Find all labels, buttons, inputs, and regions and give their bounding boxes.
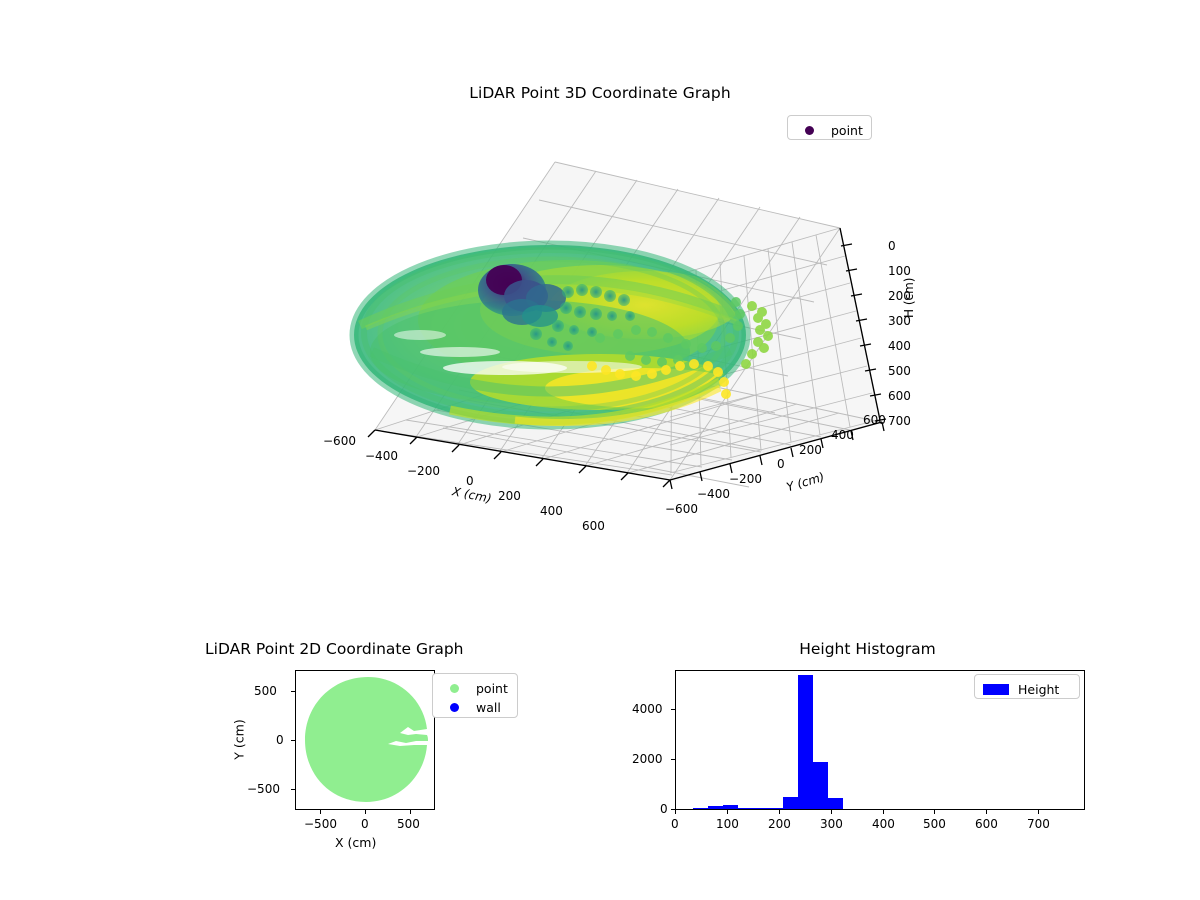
z-tick-label: 500	[888, 364, 911, 378]
histogram-legend[interactable]: Height	[974, 674, 1080, 699]
x-tick-label: −400	[365, 449, 398, 463]
y-tick-label: 600	[863, 413, 886, 427]
x-tick-label: −200	[407, 464, 440, 478]
legend-label-height: Height	[1009, 682, 1059, 697]
x-tick-label: 200	[498, 489, 521, 503]
plot-3d-canvas	[300, 120, 940, 620]
y-tick-label: 400	[831, 428, 854, 442]
x-tick-label: 700	[1027, 817, 1050, 831]
plot-3d-axes[interactable]: −600 −400 −200 0 200 400 600 X (cm) −600…	[300, 120, 940, 620]
plot-2d-canvas	[296, 671, 435, 810]
x-tick-mark	[727, 810, 728, 814]
y-tick-mark	[671, 759, 675, 760]
x-tick-label: 400	[540, 504, 563, 518]
legend-item-height[interactable]: Height	[983, 680, 1071, 699]
y-tick-label: −500	[247, 782, 280, 796]
histogram-bar	[798, 675, 813, 809]
x-tick-label: 100	[716, 817, 739, 831]
plot-2d-section: LiDAR Point 2D Coordinate Graph 500 0 −5…	[205, 640, 535, 865]
x-tick-label: 0	[361, 817, 369, 831]
x-tick-label: 600	[975, 817, 998, 831]
height-bar-icon	[983, 684, 1009, 695]
plot-2d-y-axis-label: Y (cm)	[232, 719, 247, 759]
histogram-section: Height Histogram 0 2000 4000 0 100 200 3…	[640, 640, 1110, 865]
histogram-bar	[813, 762, 828, 810]
x-tick-mark	[1038, 810, 1039, 814]
z-tick-label: 700	[888, 414, 911, 428]
x-tick-mark	[883, 810, 884, 814]
x-tick-mark	[675, 810, 676, 814]
histogram-bar	[708, 806, 723, 809]
point-marker-icon	[441, 684, 467, 693]
histogram-bar	[828, 798, 843, 809]
y-tick-mark	[291, 789, 295, 790]
x-tick-mark	[320, 810, 321, 814]
y-tick-label: 2000	[632, 752, 663, 766]
x-tick-label: 300	[820, 817, 843, 831]
x-tick-mark	[986, 810, 987, 814]
y-tick-label: 200	[799, 443, 822, 457]
x-tick-mark	[831, 810, 832, 814]
z-tick-label: 600	[888, 389, 911, 403]
legend-item-wall[interactable]: wall	[441, 698, 509, 717]
point-cloud-2d	[305, 677, 428, 802]
histogram-bar	[738, 808, 753, 810]
x-tick-label: 400	[872, 817, 895, 831]
x-tick-mark	[779, 810, 780, 814]
x-tick-label: 500	[397, 817, 420, 831]
x-tick-label: 0	[466, 474, 474, 488]
plot-3d-title: LiDAR Point 3D Coordinate Graph	[0, 84, 1200, 102]
x-tick-label: −600	[323, 434, 356, 448]
x-tick-label: 600	[582, 519, 605, 533]
plot-2d-title: LiDAR Point 2D Coordinate Graph	[205, 640, 463, 658]
y-tick-mark	[291, 740, 295, 741]
y-tick-label: 0	[777, 457, 785, 471]
z-tick-label: 400	[888, 339, 911, 353]
y-tick-mark	[671, 709, 675, 710]
histogram-bar	[753, 808, 768, 809]
legend-item-point[interactable]: point	[441, 679, 509, 698]
legend-label-wall: wall	[467, 700, 501, 715]
plot-2d-legend[interactable]: point wall	[432, 673, 518, 718]
matplotlib-figure: LiDAR Point 3D Coordinate Graph point	[0, 0, 1200, 900]
y-tick-label: 500	[254, 684, 277, 698]
legend-label-point: point	[467, 681, 508, 696]
z-tick-label: 0	[888, 239, 896, 253]
y-tick-label: −400	[697, 487, 730, 501]
x-tick-label: 500	[923, 817, 946, 831]
y-tick-label: −200	[729, 472, 762, 486]
histogram-bar	[783, 797, 798, 809]
x-tick-label: 200	[768, 817, 791, 831]
y-tick-label: −600	[665, 502, 698, 516]
x-tick-mark	[365, 810, 366, 814]
x-tick-mark	[410, 810, 411, 814]
plot-2d-x-axis-label: X (cm)	[335, 835, 376, 850]
z-axis-label: H (cm)	[902, 278, 916, 319]
y-tick-label: 0	[276, 733, 284, 747]
x-tick-label: 0	[671, 817, 679, 831]
y-tick-mark	[291, 691, 295, 692]
y-tick-label: 0	[660, 802, 668, 816]
wall-marker-icon	[441, 703, 467, 712]
plot-2d-axes[interactable]	[295, 670, 435, 810]
histogram-bar	[693, 808, 708, 809]
z-tick-label: 100	[888, 264, 911, 278]
histogram-bar	[723, 805, 738, 809]
x-tick-label: −500	[304, 817, 337, 831]
x-tick-mark	[934, 810, 935, 814]
y-tick-label: 4000	[632, 702, 663, 716]
histogram-bar	[768, 808, 783, 809]
histogram-title: Height Histogram	[640, 640, 1095, 658]
